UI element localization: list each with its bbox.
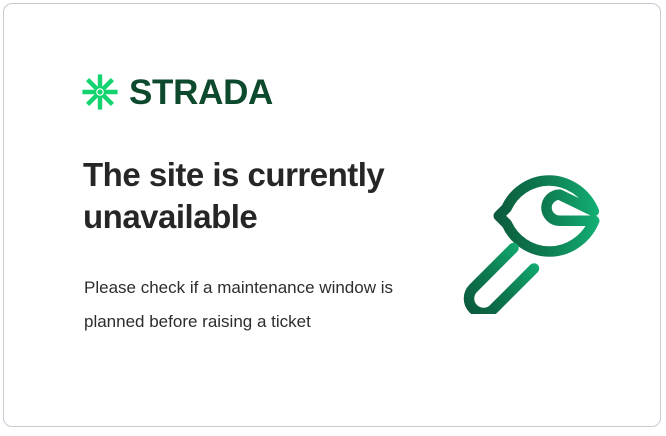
wrench-icon xyxy=(459,162,615,314)
brand-wordmark: STRADA xyxy=(129,75,273,110)
asterisk-star-icon xyxy=(80,72,120,112)
error-page: STRADA The site is currently unavailable… xyxy=(0,0,666,436)
page-title: The site is currently unavailable xyxy=(83,154,413,237)
status-card: STRADA The site is currently unavailable… xyxy=(3,3,661,427)
page-description: Please check if a maintenance window is … xyxy=(84,271,404,339)
brand-logo: STRADA xyxy=(80,72,273,112)
